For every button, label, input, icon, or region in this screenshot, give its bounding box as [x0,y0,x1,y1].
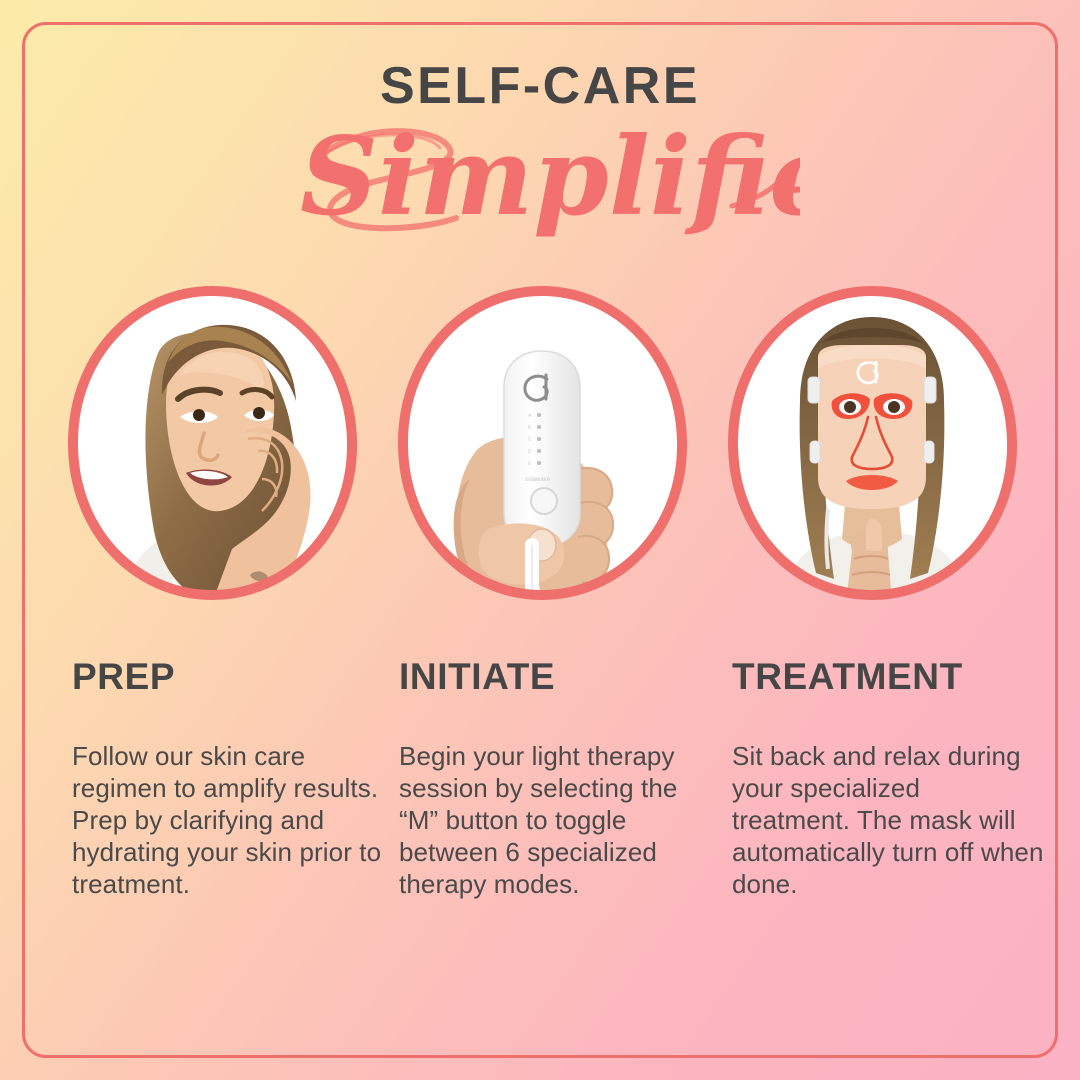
circle-image-initiate[interactable]: AB CD E solawave [392,283,692,603]
step-body-treatment: Sit back and relax during your specializ… [732,740,1044,900]
circle-image-treatment[interactable] [722,283,1022,603]
svg-text:D: D [528,449,532,455]
step-prep: PREP Follow our skin care regimen to amp… [72,658,384,900]
step-title-treatment: TREATMENT [732,658,1044,695]
simplified-script-lettering: .scriptText{ font-family:"DejaVu Serif",… [280,102,800,252]
circle-image-prep[interactable] [62,283,362,603]
svg-text:C: C [528,437,532,443]
step-initiate: INITIATE Begin your light therapy sessio… [399,658,711,900]
step-body-prep: Follow our skin care regimen to amplify … [72,740,384,900]
poster-canvas: SELF-CARE .scriptText{ font-family:"Deja… [0,0,1080,1080]
device-mode-button[interactable] [531,488,557,514]
title-block: SELF-CARE .scriptText{ font-family:"Deja… [0,60,1080,258]
script-word-text: Simplified [300,114,800,240]
step-image-row: AB CD E solawave [0,283,1080,603]
step-body-initiate: Begin your light therapy session by sele… [399,740,711,900]
script-word-wrap: .scriptText{ font-family:"DejaVu Serif",… [0,108,1080,258]
device-wordmark: solawave [525,477,551,483]
step-treatment: TREATMENT Sit back and relax during your… [732,658,1044,900]
step-title-prep: PREP [72,658,384,695]
step-title-initiate: INITIATE [399,658,711,695]
